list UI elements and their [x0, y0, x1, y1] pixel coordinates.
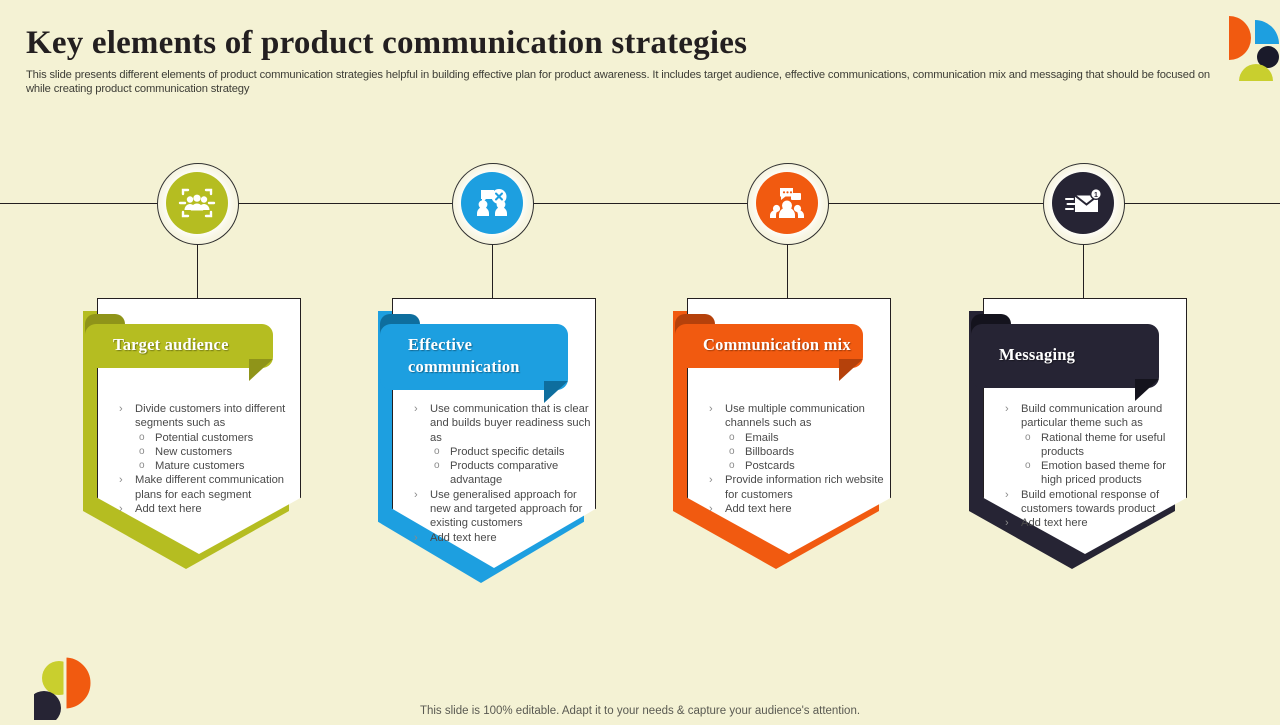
- speech-bubbles-people-icon: [461, 172, 523, 234]
- node-circle-target-audience[interactable]: [161, 167, 233, 239]
- list-item: oPotential customers: [139, 431, 297, 445]
- svg-text:1: 1: [1094, 192, 1098, 199]
- brand-logo-mark-icon: [1225, 12, 1280, 84]
- bullet-list: ›Use multiple communication channels suc…: [709, 402, 887, 516]
- chevron-bullet-icon: ›: [414, 531, 430, 545]
- list-item: ›Divide customers into different segment…: [119, 402, 297, 431]
- node-circle-effective-communication[interactable]: [456, 167, 528, 239]
- list-item: oProduct specific details: [434, 445, 592, 459]
- connector-line-effective-communication: [492, 239, 493, 299]
- list-item: ›Make different communication plans for …: [119, 473, 297, 502]
- editable-footer-note: This slide is 100% editable. Adapt it to…: [0, 705, 1280, 717]
- chevron-bullet-icon: ›: [119, 502, 135, 516]
- slide-subtitle: This slide presents different elements o…: [26, 68, 1222, 96]
- list-item: ›Add text here: [709, 502, 887, 516]
- card-title-ribbon: Messaging: [971, 324, 1159, 388]
- node-circle-messaging[interactable]: 1: [1047, 167, 1119, 239]
- card-title: Target audience: [113, 334, 273, 356]
- chevron-bullet-icon: ›: [709, 502, 725, 516]
- group-chat-icon: [756, 172, 818, 234]
- list-item: oRational theme for useful products: [1025, 431, 1183, 460]
- list-item: ›Use multiple communication channels suc…: [709, 402, 887, 431]
- list-item: ›Use communication that is clear and bui…: [414, 402, 592, 445]
- chevron-bullet-icon: ›: [709, 473, 725, 487]
- list-item: ›Add text here: [1005, 516, 1183, 530]
- list-item: ›Use generalised approach for new and ta…: [414, 488, 592, 531]
- card-title-ribbon: Effective communication: [380, 324, 568, 390]
- circle-bullet-icon: o: [729, 445, 745, 459]
- connector-line-communication-mix: [787, 239, 788, 299]
- circle-bullet-icon: o: [1025, 459, 1041, 473]
- list-item: oPostcards: [729, 459, 887, 473]
- list-item: ›Add text here: [414, 531, 592, 545]
- chevron-bullet-icon: ›: [1005, 488, 1021, 502]
- circle-bullet-icon: o: [139, 445, 155, 459]
- chevron-bullet-icon: ›: [1005, 402, 1021, 416]
- card-title: Messaging: [999, 344, 1159, 366]
- list-item: oProducts comparative advantage: [434, 459, 592, 488]
- bullet-list: ›Build communication around particular t…: [1005, 402, 1183, 531]
- circle-bullet-icon: o: [434, 445, 450, 459]
- connector-line-messaging: [1083, 239, 1084, 299]
- list-item: ›Provide information rich website for cu…: [709, 473, 887, 502]
- list-item: oBillboards: [729, 445, 887, 459]
- list-item: oNew customers: [139, 445, 297, 459]
- circle-bullet-icon: o: [1025, 431, 1041, 445]
- chevron-bullet-icon: ›: [709, 402, 725, 416]
- envelope-notification-icon: 1: [1052, 172, 1114, 234]
- slide-header: Key elements of product communication st…: [26, 24, 1226, 96]
- card-title-ribbon: Communication mix: [675, 324, 863, 368]
- circle-bullet-icon: o: [729, 431, 745, 445]
- bullet-list: ›Divide customers into different segment…: [119, 402, 297, 516]
- chevron-bullet-icon: ›: [119, 473, 135, 487]
- target-people-icon: [166, 172, 228, 234]
- bullet-list: ›Use communication that is clear and bui…: [414, 402, 592, 545]
- circle-bullet-icon: o: [139, 459, 155, 473]
- page-title: Key elements of product communication st…: [26, 24, 1226, 62]
- circle-bullet-icon: o: [729, 459, 745, 473]
- circle-bullet-icon: o: [434, 459, 450, 473]
- card-title-ribbon: Target audience: [85, 324, 273, 368]
- list-item: ›Build communication around particular t…: [1005, 402, 1183, 431]
- list-item: ›Add text here: [119, 502, 297, 516]
- chevron-bullet-icon: ›: [414, 402, 430, 416]
- chevron-bullet-icon: ›: [414, 488, 430, 502]
- card-title: Communication mix: [703, 334, 863, 356]
- connector-line-target-audience: [197, 239, 198, 299]
- list-item: ›Build emotional response of customers t…: [1005, 488, 1183, 517]
- list-item: oEmails: [729, 431, 887, 445]
- list-item: oMature customers: [139, 459, 297, 473]
- node-circle-communication-mix[interactable]: [751, 167, 823, 239]
- card-title: Effective communication: [408, 334, 568, 378]
- list-item: oEmotion based theme for high priced pro…: [1025, 459, 1183, 488]
- chevron-bullet-icon: ›: [1005, 516, 1021, 530]
- circle-bullet-icon: o: [139, 431, 155, 445]
- chevron-bullet-icon: ›: [119, 402, 135, 416]
